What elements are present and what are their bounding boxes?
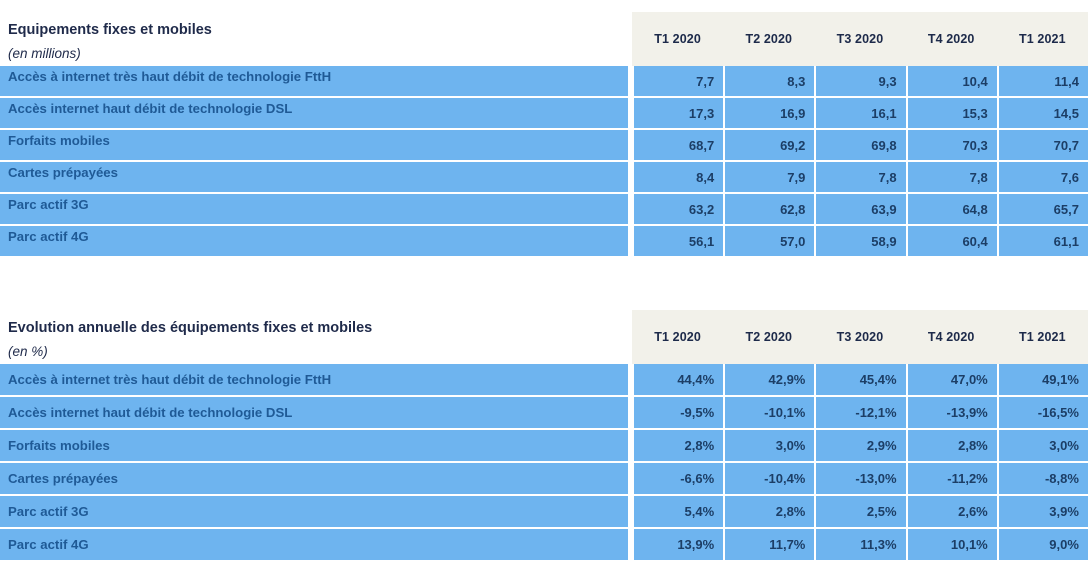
table-cell: 8,3 bbox=[723, 66, 814, 96]
column-header-t2-2020: T2 2020 bbox=[723, 310, 814, 364]
row-label: Accès internet haut débit de technologie… bbox=[0, 98, 628, 128]
table-row: Parc actif 4G 13,9% 11,7% 11,3% 10,1% 9,… bbox=[0, 529, 1088, 562]
table-cell: 49,1% bbox=[997, 364, 1088, 395]
table-cell: 63,9 bbox=[814, 194, 905, 224]
table-cell: 11,4 bbox=[997, 66, 1088, 96]
table-cell: 3,0% bbox=[723, 430, 814, 461]
column-header-t1-2021: T1 2021 bbox=[997, 310, 1088, 364]
table-subtitle-unit: (en %) bbox=[8, 336, 608, 359]
table-row: Accès à internet très haut débit de tech… bbox=[0, 364, 1088, 397]
row-label: Accès internet haut débit de technologie… bbox=[0, 397, 628, 428]
column-header-t3-2020: T3 2020 bbox=[814, 310, 905, 364]
table-row: Cartes prépayées -6,6% -10,4% -13,0% -11… bbox=[0, 463, 1088, 496]
table-cell: 60,4 bbox=[906, 226, 997, 256]
table-cell: 13,9% bbox=[632, 529, 723, 560]
table-cell: 47,0% bbox=[906, 364, 997, 395]
table-cell: 56,1 bbox=[632, 226, 723, 256]
column-header-t1-2020: T1 2020 bbox=[632, 12, 723, 66]
column-header-t4-2020: T4 2020 bbox=[906, 12, 997, 66]
table-cell: 3,9% bbox=[997, 496, 1088, 527]
table-cell: 65,7 bbox=[997, 194, 1088, 224]
table-cell: 57,0 bbox=[723, 226, 814, 256]
row-label: Forfaits mobiles bbox=[0, 130, 628, 160]
page-title: Equipements fixes et mobiles bbox=[8, 12, 608, 38]
table-cell: 16,9 bbox=[723, 98, 814, 128]
table-cell: 2,8% bbox=[723, 496, 814, 527]
row-label: Cartes prépayées bbox=[0, 463, 628, 494]
table-cell: 68,7 bbox=[632, 130, 723, 160]
table-cell: 9,3 bbox=[814, 66, 905, 96]
row-label: Parc actif 3G bbox=[0, 496, 628, 527]
table-cell: -10,1% bbox=[723, 397, 814, 428]
table-cell: 11,7% bbox=[723, 529, 814, 560]
column-header-t1-2021: T1 2021 bbox=[997, 12, 1088, 66]
row-label: Parc actif 4G bbox=[0, 529, 628, 560]
table-title-block: Evolution annuelle des équipements fixes… bbox=[8, 310, 608, 364]
table-cell: -8,8% bbox=[997, 463, 1088, 494]
column-headers: T1 2020 T2 2020 T3 2020 T4 2020 T1 2021 bbox=[632, 310, 1088, 364]
table-cell: -10,4% bbox=[723, 463, 814, 494]
table-cell: 2,5% bbox=[814, 496, 905, 527]
table-cell: 16,1 bbox=[814, 98, 905, 128]
column-header-t4-2020: T4 2020 bbox=[906, 310, 997, 364]
row-label: Accès à internet très haut débit de tech… bbox=[0, 66, 628, 96]
section-title: Evolution annuelle des équipements fixes… bbox=[8, 310, 608, 336]
table-cell: 17,3 bbox=[632, 98, 723, 128]
table-cell: 5,4% bbox=[632, 496, 723, 527]
table-cell: 69,2 bbox=[723, 130, 814, 160]
table-cell: 11,3% bbox=[814, 529, 905, 560]
table-cell: 62,8 bbox=[723, 194, 814, 224]
table-cell: 42,9% bbox=[723, 364, 814, 395]
table-cell: 2,8% bbox=[632, 430, 723, 461]
table-cell: 44,4% bbox=[632, 364, 723, 395]
table-row: Parc actif 4G 56,1 57,0 58,9 60,4 61,1 bbox=[0, 226, 1088, 258]
table-cell: -9,5% bbox=[632, 397, 723, 428]
table-cell: 9,0% bbox=[997, 529, 1088, 560]
column-header-t1-2020: T1 2020 bbox=[632, 310, 723, 364]
table-cell: 14,5 bbox=[997, 98, 1088, 128]
table-cell: 2,8% bbox=[906, 430, 997, 461]
table-cell: 2,9% bbox=[814, 430, 905, 461]
table-equipements-fixes-et-mobiles: Equipements fixes et mobiles (en million… bbox=[0, 12, 1088, 258]
table-header-row: Evolution annuelle des équipements fixes… bbox=[0, 310, 1088, 364]
table-cell: 69,8 bbox=[814, 130, 905, 160]
table-cell: 70,7 bbox=[997, 130, 1088, 160]
table-row: Forfaits mobiles 68,7 69,2 69,8 70,3 70,… bbox=[0, 130, 1088, 162]
table-cell: 61,1 bbox=[997, 226, 1088, 256]
table-cell: -11,2% bbox=[906, 463, 997, 494]
column-header-t3-2020: T3 2020 bbox=[814, 12, 905, 66]
table-row: Accès internet haut débit de technologie… bbox=[0, 98, 1088, 130]
row-label: Parc actif 4G bbox=[0, 226, 628, 256]
table-cell: 2,6% bbox=[906, 496, 997, 527]
table-row: Parc actif 3G 5,4% 2,8% 2,5% 2,6% 3,9% bbox=[0, 496, 1088, 529]
table-row: Forfaits mobiles 2,8% 3,0% 2,9% 2,8% 3,0… bbox=[0, 430, 1088, 463]
table-cell: 7,9 bbox=[723, 162, 814, 192]
table-row: Parc actif 3G 63,2 62,8 63,9 64,8 65,7 bbox=[0, 194, 1088, 226]
table-header-row: Equipements fixes et mobiles (en million… bbox=[0, 12, 1088, 66]
table-cell: 58,9 bbox=[814, 226, 905, 256]
table-cell: 10,1% bbox=[906, 529, 997, 560]
table-row: Accès à internet très haut débit de tech… bbox=[0, 66, 1088, 98]
table-evolution-annuelle: Evolution annuelle des équipements fixes… bbox=[0, 310, 1088, 562]
row-label: Accès à internet très haut débit de tech… bbox=[0, 364, 628, 395]
table-title-block: Equipements fixes et mobiles (en million… bbox=[8, 12, 608, 66]
table-subtitle-unit: (en millions) bbox=[8, 38, 608, 61]
table-cell: 3,0% bbox=[997, 430, 1088, 461]
table-cell: 64,8 bbox=[906, 194, 997, 224]
table-cell: -13,0% bbox=[814, 463, 905, 494]
table-cell: 7,8 bbox=[814, 162, 905, 192]
table-cell: 7,6 bbox=[997, 162, 1088, 192]
table-cell: 63,2 bbox=[632, 194, 723, 224]
table-cell: 45,4% bbox=[814, 364, 905, 395]
table-cell: 8,4 bbox=[632, 162, 723, 192]
row-label: Forfaits mobiles bbox=[0, 430, 628, 461]
row-label: Cartes prépayées bbox=[0, 162, 628, 192]
row-label: Parc actif 3G bbox=[0, 194, 628, 224]
table-cell: -12,1% bbox=[814, 397, 905, 428]
table-cell: 70,3 bbox=[906, 130, 997, 160]
table-cell: 7,8 bbox=[906, 162, 997, 192]
table-cell: -13,9% bbox=[906, 397, 997, 428]
table-cell: 10,4 bbox=[906, 66, 997, 96]
table-cell: 7,7 bbox=[632, 66, 723, 96]
column-header-t2-2020: T2 2020 bbox=[723, 12, 814, 66]
column-headers: T1 2020 T2 2020 T3 2020 T4 2020 T1 2021 bbox=[632, 12, 1088, 66]
table-cell: -16,5% bbox=[997, 397, 1088, 428]
table-cell: -6,6% bbox=[632, 463, 723, 494]
table-row: Cartes prépayées 8,4 7,9 7,8 7,8 7,6 bbox=[0, 162, 1088, 194]
table-row: Accès internet haut débit de technologie… bbox=[0, 397, 1088, 430]
table-cell: 15,3 bbox=[906, 98, 997, 128]
